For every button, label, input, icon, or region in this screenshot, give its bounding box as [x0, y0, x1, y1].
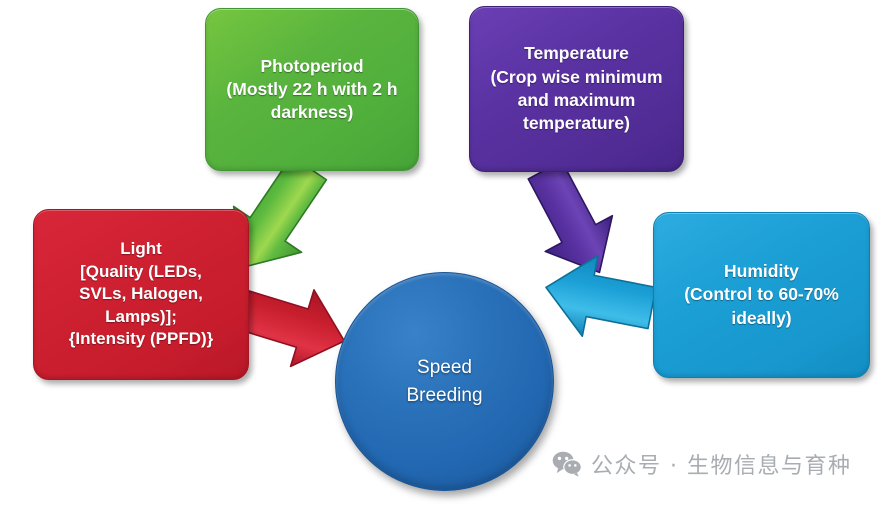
- wechat-icon: [552, 451, 582, 477]
- watermark: 公众号 · 生物信息与育种: [552, 448, 851, 480]
- arrow-temperature-to-center: [511, 152, 633, 290]
- node-speed-breeding-label: Speed Breeding: [400, 354, 488, 409]
- node-photoperiod[interactable]: Photoperiod (Mostly 22 h with 2 h darkne…: [205, 8, 419, 171]
- arrow-humidity-to-center: [538, 247, 660, 348]
- node-humidity-label: Humidity (Control to 60-70% ideally): [678, 260, 845, 330]
- node-speed-breeding[interactable]: Speed Breeding: [335, 272, 554, 491]
- node-light[interactable]: Light [Quality (LEDs, SVLs, Halogen, Lam…: [33, 209, 249, 380]
- node-photoperiod-label: Photoperiod (Mostly 22 h with 2 h darkne…: [220, 55, 403, 125]
- node-temperature[interactable]: Temperature (Crop wise minimum and maxim…: [469, 6, 684, 172]
- speed-breeding-diagram: Photoperiod (Mostly 22 h with 2 h darkne…: [0, 0, 888, 505]
- node-temperature-label: Temperature (Crop wise minimum and maxim…: [484, 42, 668, 135]
- node-humidity[interactable]: Humidity (Control to 60-70% ideally): [653, 212, 870, 378]
- watermark-text: 公众号 · 生物信息与育种: [591, 448, 851, 480]
- node-light-label: Light [Quality (LEDs, SVLs, Halogen, Lam…: [63, 238, 220, 351]
